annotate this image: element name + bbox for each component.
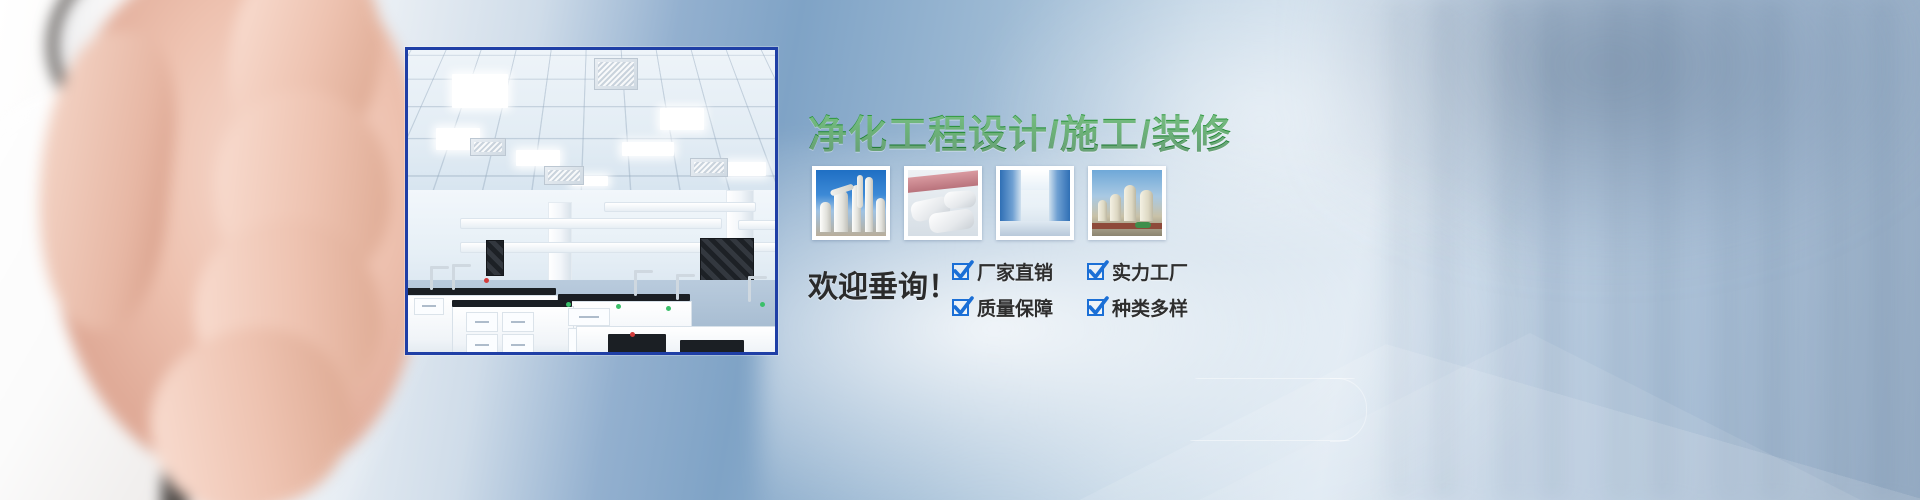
lab-shelf — [604, 202, 756, 212]
headline-title: 净化工程设计/施工/装修 — [808, 104, 1232, 160]
feature-item[interactable]: 质量保障 — [952, 294, 1053, 321]
bench-countertop — [452, 300, 572, 307]
ceiling-light-panel — [726, 162, 766, 176]
lab-instrument — [486, 240, 504, 276]
storage-tank — [1140, 190, 1153, 222]
promo-banner: 净化工程设计/施工/装修 — [0, 0, 1920, 500]
thumbnail-image — [816, 170, 886, 236]
ceiling-air-vent — [690, 158, 728, 177]
sink-basin — [608, 334, 666, 352]
air-duct — [944, 190, 977, 209]
welcome-text: 欢迎垂询！ — [808, 262, 958, 306]
feature-label: 实力工厂 — [1112, 258, 1188, 285]
lab-faucet — [748, 276, 751, 302]
ceiling-light-panel — [516, 150, 560, 166]
cabinet-drawer — [568, 308, 610, 326]
feature-list: 厂家直销 实力工厂 质量保障 种类多样 — [952, 258, 1188, 321]
feature-item[interactable]: 种类多样 — [1087, 294, 1188, 321]
scrubber-tower — [820, 202, 831, 232]
valve-knob — [616, 304, 621, 309]
ceiling-air-vent — [594, 58, 638, 90]
storage-tank — [1124, 185, 1136, 222]
lab-faucet — [430, 266, 433, 290]
lab-faucet — [452, 264, 455, 290]
scrubber-tower — [876, 198, 885, 232]
lab-shelf — [460, 218, 722, 229]
valve-knob — [760, 302, 765, 307]
corridor-wall-right — [1049, 170, 1070, 225]
storage-tank — [1110, 194, 1121, 222]
stethoscope-hand-photo — [0, 0, 450, 500]
check-icon — [1087, 263, 1104, 280]
thumbnail-scrubber-towers[interactable] — [812, 166, 890, 240]
check-icon — [952, 263, 969, 280]
valve-knob-red — [484, 278, 489, 283]
storage-tank — [1098, 200, 1108, 221]
valve-knob-red — [630, 332, 635, 337]
feature-label: 质量保障 — [977, 294, 1053, 321]
lab-faucet — [676, 274, 679, 300]
island-bench — [576, 326, 775, 352]
main-photo-frame[interactable] — [405, 47, 778, 355]
green-cover — [1135, 222, 1150, 228]
ceiling-light-panel — [622, 142, 674, 156]
cabinet-drawer — [466, 312, 498, 332]
lab-shelf — [738, 220, 775, 230]
thumbnail-tanks-loading[interactable] — [1088, 166, 1166, 240]
scrubber-tower — [834, 191, 848, 232]
sink-basin — [680, 340, 744, 352]
feature-label: 厂家直销 — [977, 258, 1053, 285]
cabinet-drawer — [466, 334, 498, 352]
ceiling-air-vent — [544, 166, 584, 185]
check-icon — [952, 299, 969, 316]
roof-edge — [908, 170, 978, 193]
check-icon — [1087, 299, 1104, 316]
thumbnail-cleanroom-corridor[interactable] — [996, 166, 1074, 240]
duct-pipe — [857, 175, 863, 208]
thumbnail-image — [1092, 170, 1162, 236]
scrubber-tower — [865, 177, 873, 232]
ceiling-air-vent — [470, 138, 506, 156]
thumbnail-strip — [812, 166, 1166, 240]
valve-knob — [566, 302, 571, 307]
bench-countertop — [558, 294, 690, 301]
corridor-wall-left — [1000, 170, 1021, 225]
ceiling-light-panel — [660, 108, 704, 130]
truck-bed — [1092, 223, 1162, 230]
lab-faucet — [634, 270, 637, 296]
feature-label: 种类多样 — [1112, 294, 1188, 321]
corridor-floor — [1000, 221, 1070, 236]
thumbnail-image — [908, 170, 978, 236]
feature-item[interactable]: 实力工厂 — [1087, 258, 1188, 285]
thumbnail-air-ducting[interactable] — [904, 166, 982, 240]
cabinet-drawer — [502, 334, 534, 352]
feature-item[interactable]: 厂家直销 — [952, 258, 1053, 285]
valve-knob — [666, 306, 671, 311]
laboratory-cleanroom-photo — [408, 50, 775, 352]
cabinet-drawer — [414, 298, 444, 315]
ceiling-light-panel — [452, 74, 508, 108]
cabinet-drawer — [502, 312, 534, 332]
thumbnail-image — [1000, 170, 1070, 236]
